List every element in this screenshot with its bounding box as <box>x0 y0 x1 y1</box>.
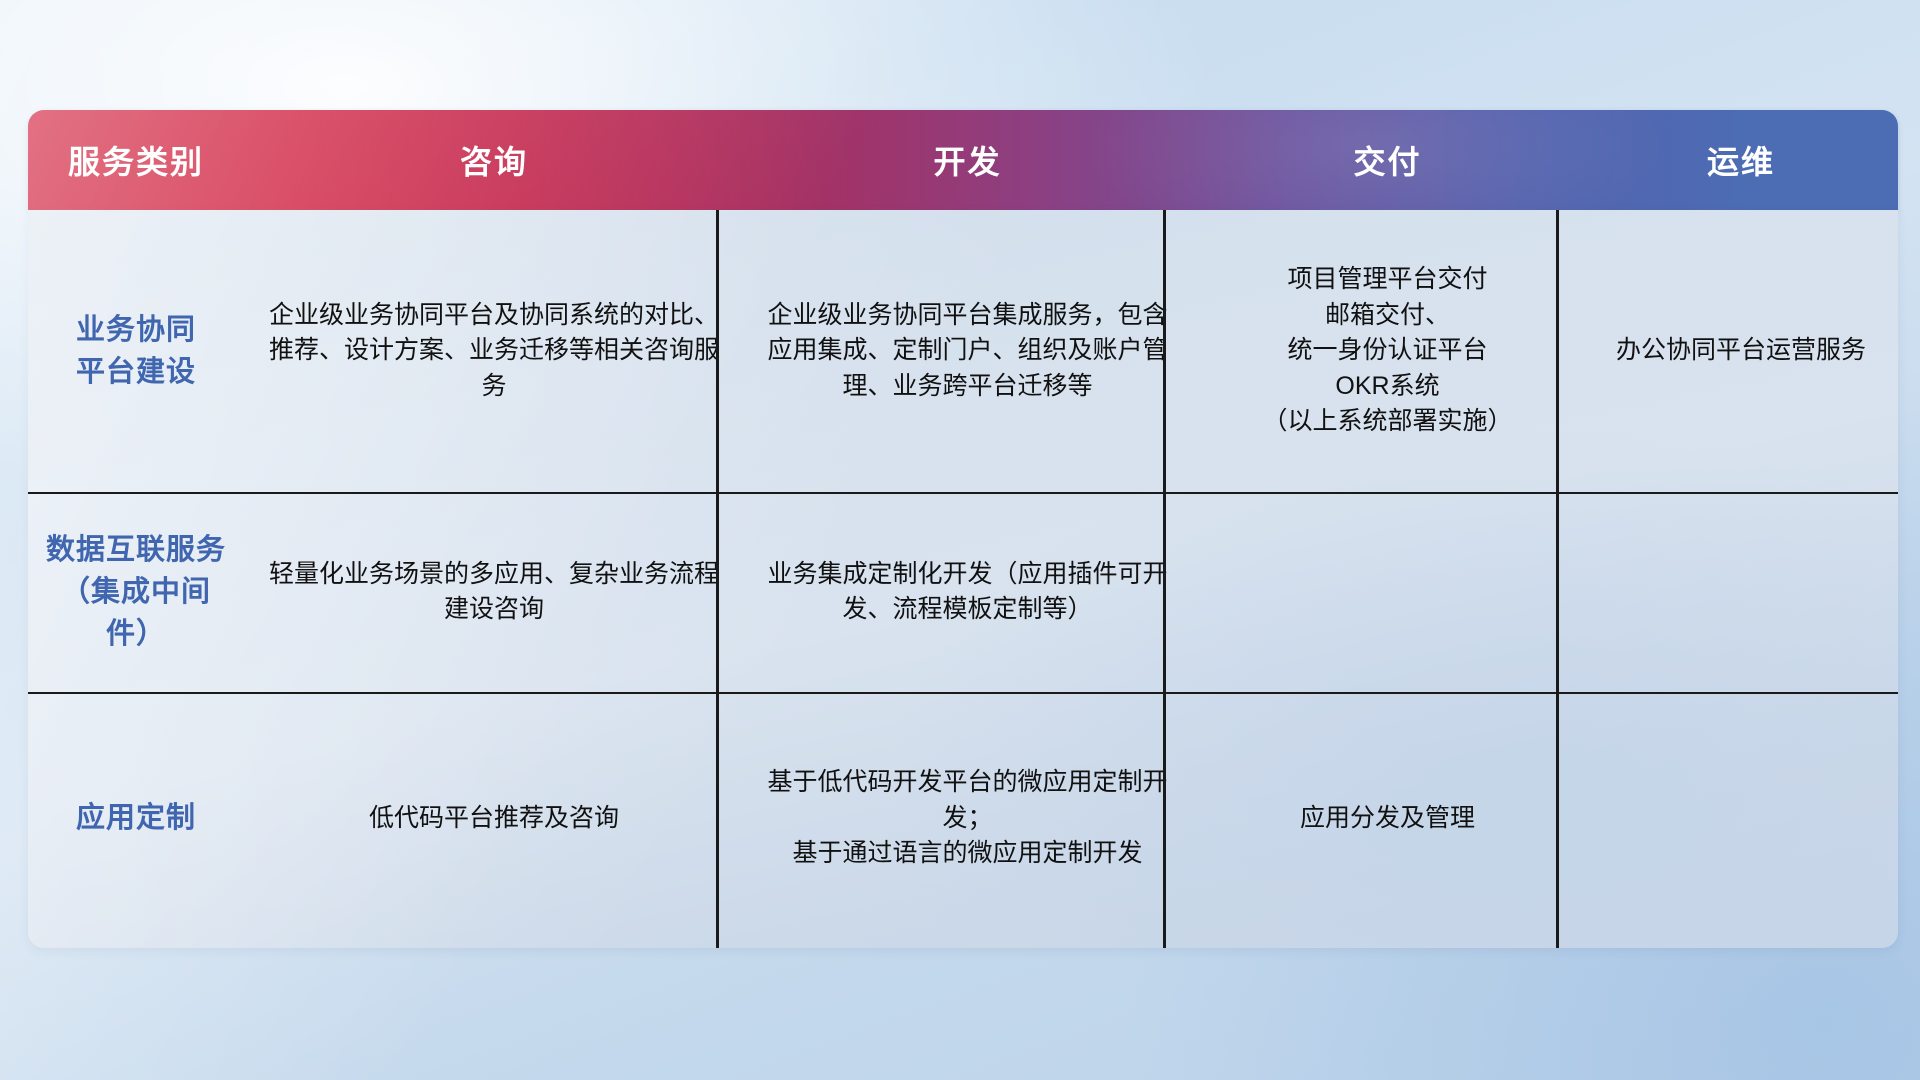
column-divider-1 <box>716 210 719 948</box>
column-header-consulting: 咨询 <box>244 137 744 183</box>
row-divider-2 <box>28 692 1898 694</box>
row-label-business-collaboration: 业务协同 平台建设 <box>28 210 244 492</box>
table-row: 数据互联服务 （集成中间件） 轻量化业务场景的多应用、复杂业务流程建设咨询 业务… <box>28 492 1898 692</box>
column-header-development: 开发 <box>744 137 1191 183</box>
cell-row2-development: 业务集成定制化开发（应用插件可开发、流程模板定制等） <box>744 492 1191 692</box>
cell-row3-development: 基于低代码开发平台的微应用定制开发； 基于通过语言的微应用定制开发 <box>744 692 1191 945</box>
row-label-data-interconnect: 数据互联服务 （集成中间件） <box>28 492 244 692</box>
cell-row1-operations: 办公协同平台运营服务 <box>1584 210 1898 492</box>
cell-row1-delivery: 项目管理平台交付 邮箱交付、 统一身份认证平台 OKR系统 （以上系统部署实施） <box>1191 210 1584 492</box>
column-header-operations: 运维 <box>1584 137 1898 183</box>
table-body: 业务协同 平台建设 企业级业务协同平台及协同系统的对比、推荐、设计方案、业务迁移… <box>28 210 1898 948</box>
table-header-row: 服务类别 咨询 开发 交付 运维 <box>28 110 1898 210</box>
table-row: 应用定制 低代码平台推荐及咨询 基于低代码开发平台的微应用定制开发； 基于通过语… <box>28 692 1898 945</box>
row-label-app-customization: 应用定制 <box>28 692 244 945</box>
table-row: 业务协同 平台建设 企业级业务协同平台及协同系统的对比、推荐、设计方案、业务迁移… <box>28 210 1898 492</box>
cell-row2-consulting: 轻量化业务场景的多应用、复杂业务流程建设咨询 <box>244 492 744 692</box>
cell-row3-operations <box>1584 692 1898 945</box>
service-matrix-table: 服务类别 咨询 开发 交付 运维 业务协同 平台建设 企业级业务协同平台及协同系… <box>28 110 1898 948</box>
column-header-delivery: 交付 <box>1191 137 1584 183</box>
cell-row3-delivery: 应用分发及管理 <box>1191 692 1584 945</box>
cell-row1-consulting: 企业级业务协同平台及协同系统的对比、推荐、设计方案、业务迁移等相关咨询服务 <box>244 210 744 492</box>
row-divider-1 <box>28 492 1898 494</box>
slide-canvas: 服务类别 咨询 开发 交付 运维 业务协同 平台建设 企业级业务协同平台及协同系… <box>0 0 1920 1080</box>
cell-row2-delivery <box>1191 492 1584 692</box>
cell-row3-consulting: 低代码平台推荐及咨询 <box>244 692 744 945</box>
column-divider-2 <box>1163 210 1166 948</box>
cell-row1-development: 企业级业务协同平台集成服务，包含应用集成、定制门户、组织及账户管理、业务跨平台迁… <box>744 210 1191 492</box>
column-header-service-category: 服务类别 <box>28 137 244 183</box>
cell-row2-operations <box>1584 492 1898 692</box>
column-divider-3 <box>1556 210 1559 948</box>
